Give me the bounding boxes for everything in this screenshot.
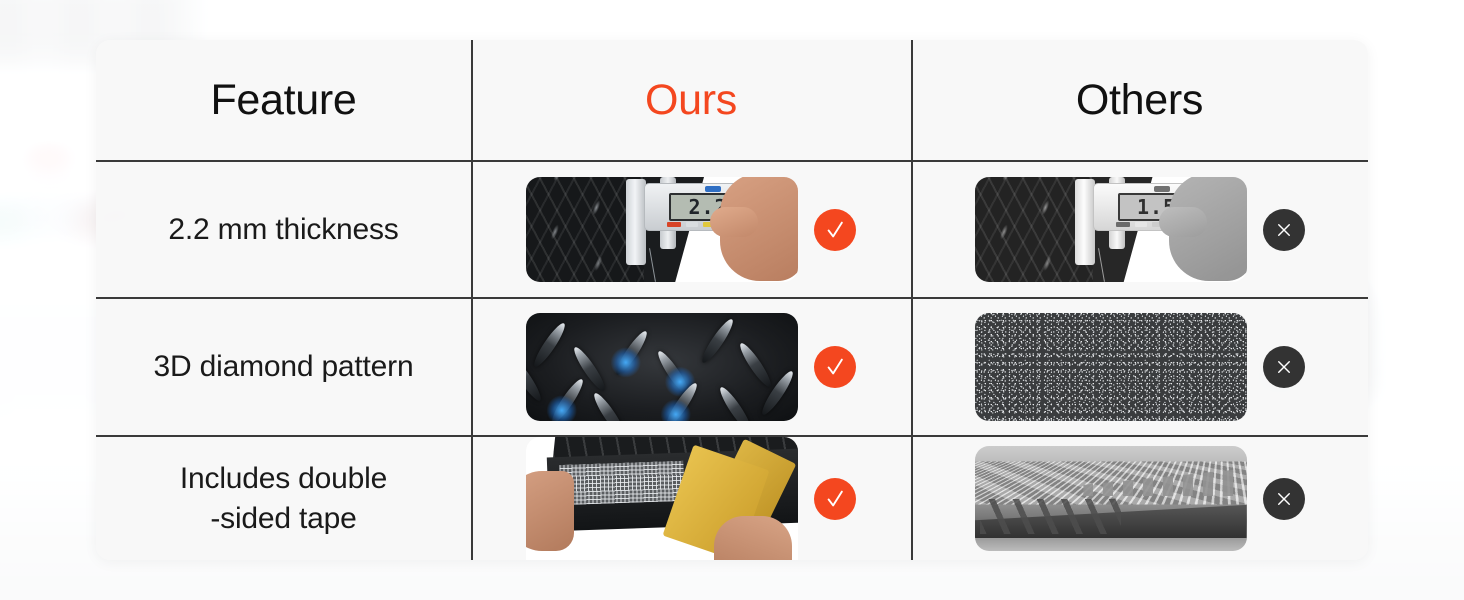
- feature-label-tape: Includes double -sided tape: [180, 459, 387, 538]
- header-label-others: Others: [1076, 76, 1203, 125]
- feature-label-tape-line1: Includes double: [180, 462, 387, 495]
- ours-cell-thickness: 2.2: [471, 162, 911, 297]
- header-cell-ours: Ours: [471, 40, 911, 160]
- ours-image-3d-diamond-pattern: [526, 313, 798, 421]
- feature-cell-thickness: 2.2 mm thickness: [96, 162, 471, 297]
- feature-cell-tape: Includes double -sided tape: [96, 437, 471, 560]
- table-row: 2.2 mm thickness 2.2: [96, 162, 1368, 297]
- header-label-ours: Ours: [645, 76, 737, 125]
- feature-label-tape-line2: -sided tape: [210, 502, 356, 535]
- others-cell-thickness: 1.5: [911, 162, 1368, 297]
- cross-icon: [1263, 478, 1305, 520]
- header-label-feature: Feature: [210, 76, 356, 125]
- others-image-interlocking-tile: [975, 446, 1247, 551]
- cross-icon: [1263, 346, 1305, 388]
- ours-cell-tape: [471, 437, 911, 560]
- feature-label-thickness: 2.2 mm thickness: [168, 210, 398, 250]
- feature-label-pattern: 3D diamond pattern: [154, 347, 414, 387]
- feature-cell-pattern: 3D diamond pattern: [96, 299, 471, 435]
- table-row: 3D diamond pattern: [96, 299, 1368, 435]
- ours-cell-pattern: [471, 299, 911, 435]
- others-cell-pattern: [911, 299, 1368, 435]
- ours-image-double-sided-tape: [526, 437, 798, 560]
- ours-image-caliper-2-2mm: 2.2: [526, 177, 798, 282]
- header-cell-others: Others: [911, 40, 1368, 160]
- others-cell-tape: [911, 437, 1368, 560]
- others-image-caliper-1-5mm: 1.5: [975, 177, 1247, 282]
- check-icon: [814, 346, 856, 388]
- others-image-flat-speckled-texture: [975, 313, 1247, 421]
- check-icon: [814, 209, 856, 251]
- comparison-table-card: Feature Ours Others 2.2 mm thickness: [96, 40, 1368, 560]
- comparison-table: Feature Ours Others 2.2 mm thickness: [96, 40, 1368, 560]
- cross-icon: [1263, 209, 1305, 251]
- table-row: Includes double -sided tape: [96, 437, 1368, 560]
- table-header-row: Feature Ours Others: [96, 40, 1368, 160]
- header-cell-feature: Feature: [96, 40, 471, 160]
- check-icon: [814, 478, 856, 520]
